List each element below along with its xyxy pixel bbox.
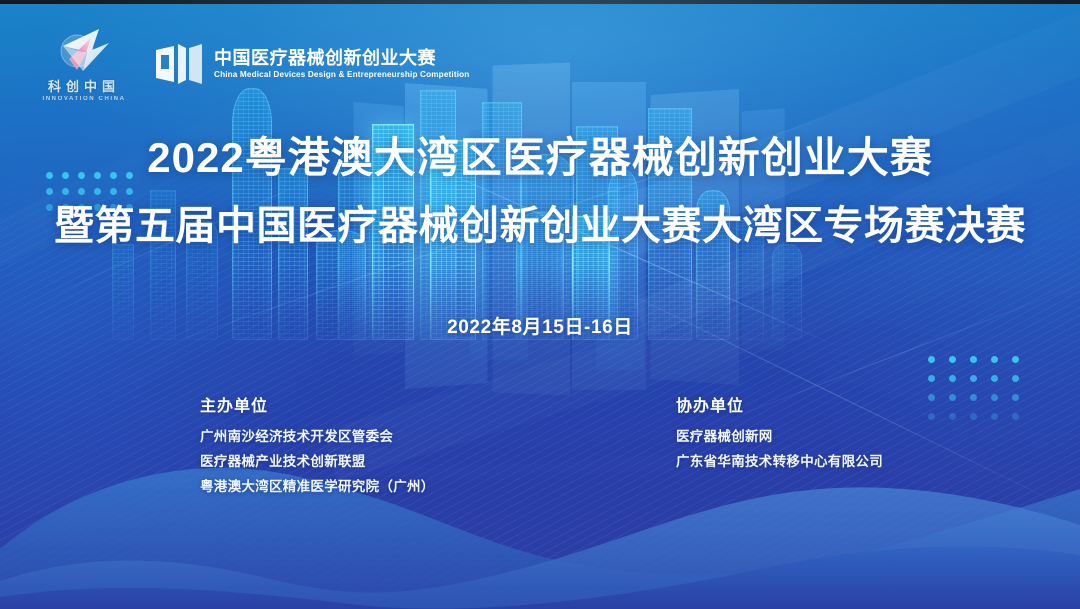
title-line-1: 2022粤港澳大湾区医疗器械创新创业大赛	[0, 132, 1080, 185]
event-date: 2022年8月15日-16日	[0, 312, 1080, 339]
innovation-china-label-en: INNOVATION CHINA	[42, 96, 125, 102]
co-organizer-heading: 协办单位	[676, 392, 883, 416]
cmdde-gate-icon	[154, 42, 204, 86]
bottom-waves	[0, 429, 1080, 609]
innovation-china-logo: 科创中国 INNOVATION CHINA	[36, 26, 132, 102]
header-logo-bar: 科创中国 INNOVATION CHINA 中国医疗器械创新创业大赛 China…	[36, 26, 469, 102]
innovation-china-bird-icon	[47, 26, 121, 74]
host-organizer-block: 主办单位 广州南沙经济技术开发区管委会 医疗器械产业技术创新联盟 粤港澳大湾区精…	[200, 392, 435, 500]
title-line-2: 暨第五届中国医疗器械创新创业大赛大湾区专场赛决赛	[0, 201, 1080, 251]
competition-name-cn: 中国医疗器械创新创业大赛	[214, 48, 469, 69]
host-organizer-item: 粤港澳大湾区精准医学研究院（广州）	[200, 475, 435, 500]
competition-logo: 中国医疗器械创新创业大赛 China Medical Devices Desig…	[154, 42, 469, 86]
host-organizer-heading: 主办单位	[200, 392, 435, 416]
innovation-china-label-cn: 科创中国	[48, 76, 120, 95]
dot-grid-right	[928, 356, 1021, 420]
co-organizer-item: 医疗器械创新网	[676, 425, 883, 450]
poster-title: 2022粤港澳大湾区医疗器械创新创业大赛 暨第五届中国医疗器械创新创业大赛大湾区…	[0, 132, 1080, 251]
competition-logo-text: 中国医疗器械创新创业大赛 China Medical Devices Desig…	[214, 48, 469, 81]
event-poster: 科创中国 INNOVATION CHINA 中国医疗器械创新创业大赛 China…	[0, 0, 1080, 609]
co-organizer-block: 协办单位 医疗器械创新网 广东省华南技术转移中心有限公司	[676, 392, 883, 475]
co-organizer-item: 广东省华南技术转移中心有限公司	[676, 450, 883, 475]
host-organizer-item: 医疗器械产业技术创新联盟	[200, 450, 435, 475]
competition-name-en: China Medical Devices Design & Entrepren…	[214, 70, 469, 80]
host-organizer-item: 广州南沙经济技术开发区管委会	[200, 425, 435, 450]
